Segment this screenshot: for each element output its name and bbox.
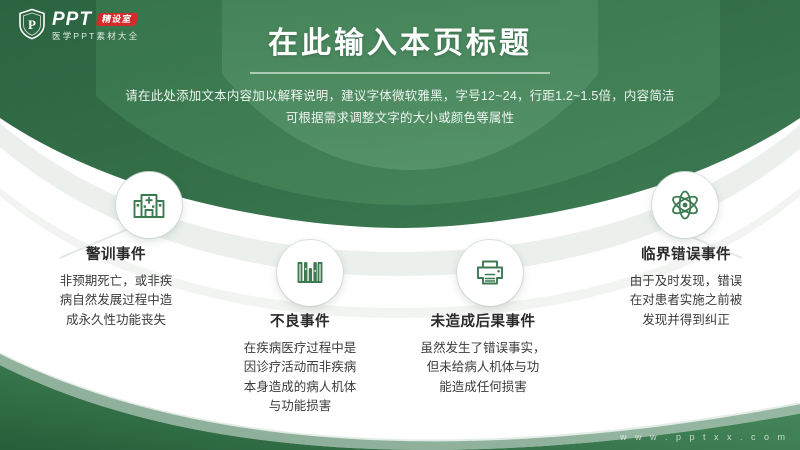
card-2-title: 不良事件 [212,310,388,331]
card-4-desc: 由于及时发现，错误 在对患者实施之前被 发现并得到纠正 [596,272,776,330]
card-2-desc-line-3: 本身造成的病人机体 [212,378,388,397]
title-divider [250,72,550,74]
card-4: 临界错误事件 由于及时发现，错误 在对患者实施之前被 发现并得到纠正 [596,243,776,330]
card-2: 不良事件 在疾病医疗过程中是 因诊疗活动而非疾病 本身造成的病人机体 与功能损害 [212,310,388,417]
card-1-title: 警训事件 [28,243,204,264]
card-3: 未造成后果事件 虽然发生了错误事实， 但未给病人机体与功 能造成任何损害 [392,310,574,397]
subtitle-line-1: 请在此处添加文本内容加以解释说明，建议字体微软雅黑，字号12~24，行距1.2~… [0,86,800,108]
site-watermark: w w w . p p t x x . c o m [620,432,788,442]
icon-circle-4[interactable] [652,172,718,238]
card-2-desc-line-1: 在疾病医疗过程中是 [212,339,388,358]
icon-circle-2[interactable] [277,240,343,306]
node-1[interactable] [116,172,182,238]
icon-circle-1[interactable] [116,172,182,238]
node-2[interactable] [277,240,343,306]
card-2-desc-line-2: 因诊疗活动而非疾病 [212,358,388,377]
atom-icon [668,188,702,222]
card-4-desc-line-1: 由于及时发现，错误 [596,272,776,291]
brand-logo: P PPT 精设室 医学PPT素材大全 [18,8,139,41]
logo-tagline: 医学PPT素材大全 [52,32,139,41]
card-3-desc: 虽然发生了错误事实， 但未给病人机体与功 能造成任何损害 [392,339,574,397]
page-subtitle: 请在此处添加文本内容加以解释说明，建议字体微软雅黑，字号12~24，行距1.2~… [0,86,800,130]
card-1-desc-line-1: 非预期死亡，或非疾 [28,272,204,291]
card-1-desc: 非预期死亡，或非疾 病自然发展过程中造 成永久性功能丧失 [28,272,204,330]
card-3-desc-line-3: 能造成任何损害 [392,378,574,397]
card-1-desc-line-3: 成永久性功能丧失 [28,311,204,330]
test-tubes-icon [294,257,326,289]
node-3[interactable] [457,240,523,306]
card-4-title: 临界错误事件 [596,243,776,264]
card-3-title: 未造成后果事件 [392,310,574,331]
logo-badge: 精设室 [96,13,138,26]
logo-brand-text: PPT [52,10,92,29]
card-4-desc-line-2: 在对患者实施之前被 [596,291,776,310]
card-2-desc: 在疾病医疗过程中是 因诊疗活动而非疾病 本身造成的病人机体 与功能损害 [212,339,388,417]
subtitle-line-2: 可根据需求调整文字的大小或颜色等属性 [0,108,800,130]
card-2-desc-line-4: 与功能损害 [212,397,388,416]
shield-p-icon: P [18,8,46,40]
svg-text:P: P [28,17,36,32]
card-4-desc-line-3: 发现并得到纠正 [596,311,776,330]
slide-canvas: P PPT 精设室 医学PPT素材大全 在此输入本页标题 请在此处添加文本内容加… [0,0,800,450]
icon-circle-3[interactable] [457,240,523,306]
card-1: 警训事件 非预期死亡，或非疾 病自然发展过程中造 成永久性功能丧失 [28,243,204,330]
card-1-desc-line-2: 病自然发展过程中造 [28,291,204,310]
printer-icon [474,257,506,289]
node-4[interactable] [652,172,718,238]
card-3-desc-line-1: 虽然发生了错误事实， [392,339,574,358]
hospital-icon [132,188,166,222]
card-3-desc-line-2: 但未给病人机体与功 [392,358,574,377]
